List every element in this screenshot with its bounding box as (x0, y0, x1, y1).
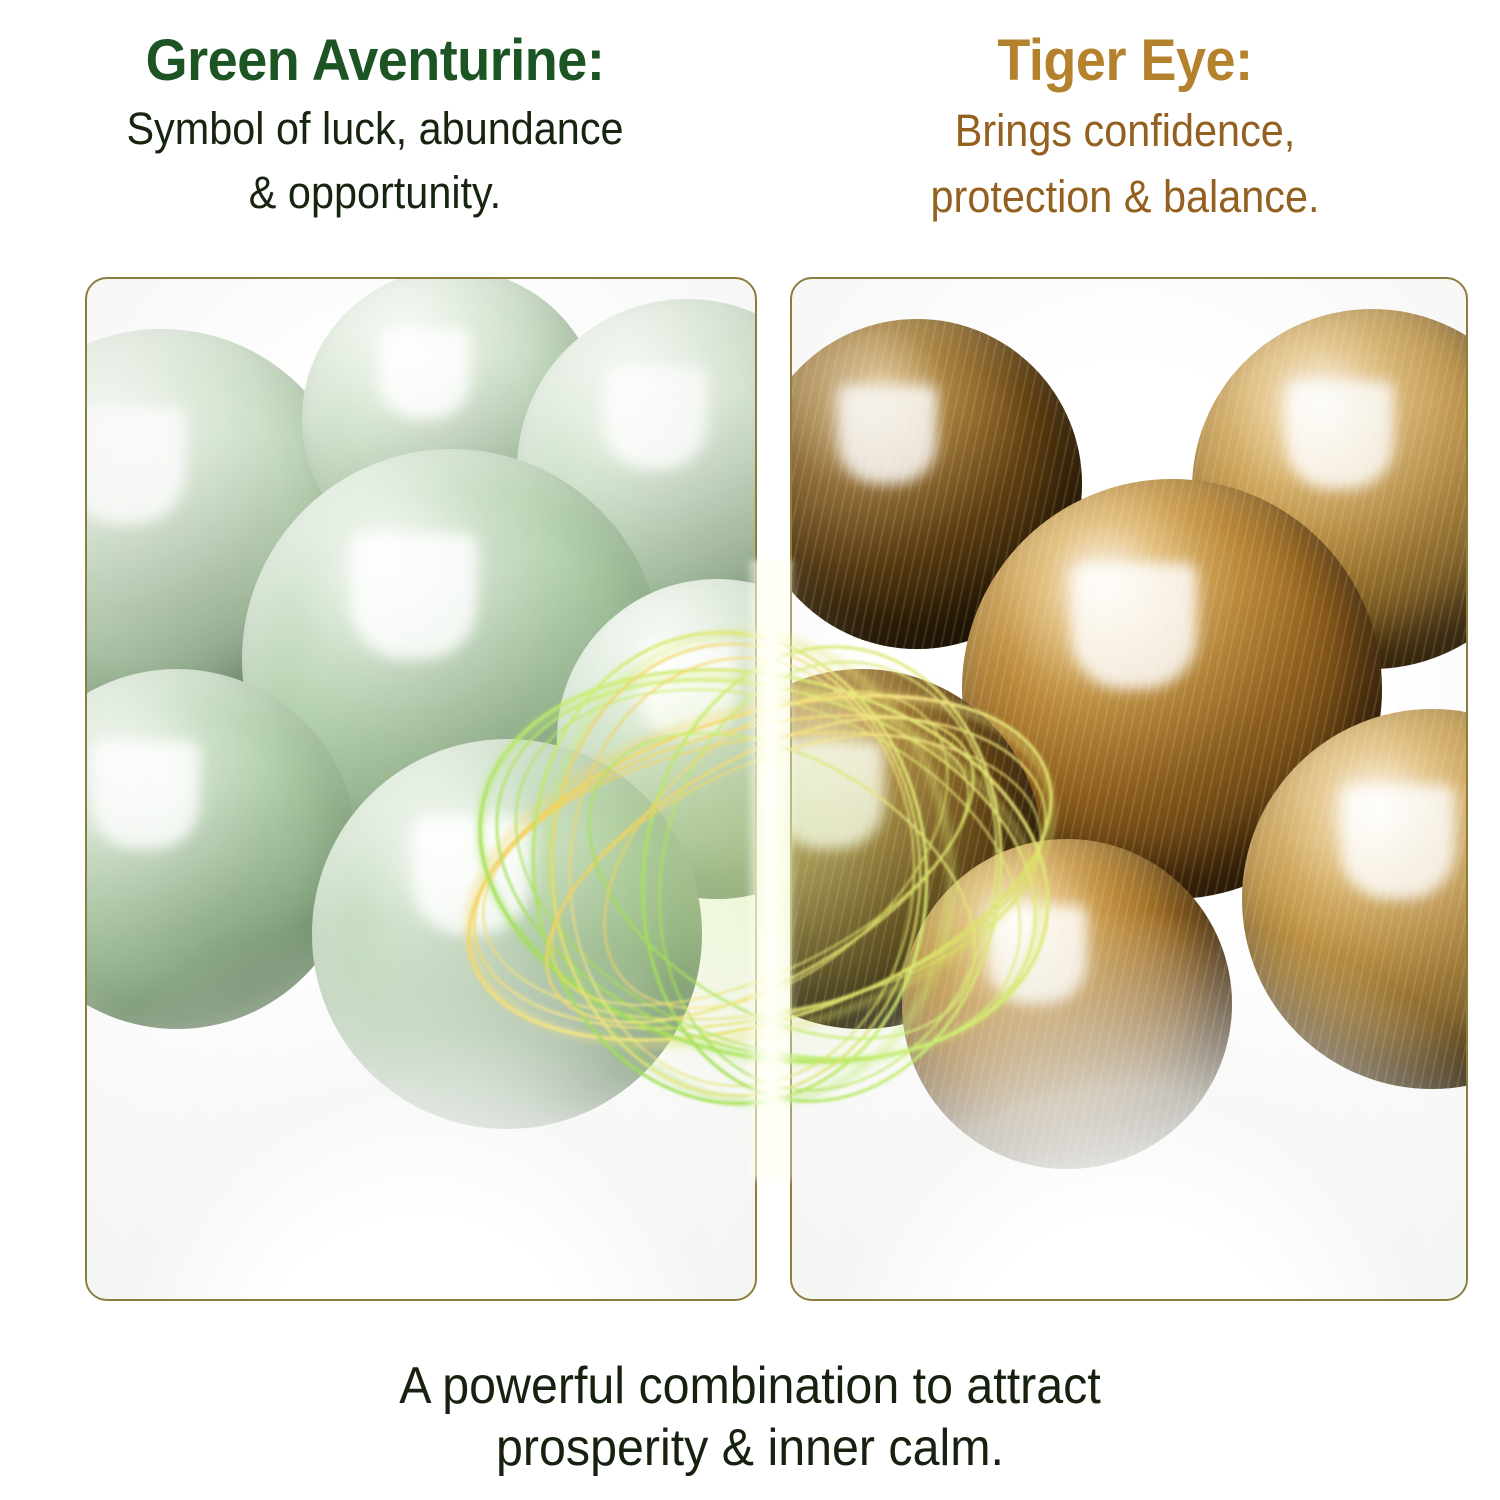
tiger-eye-photo-panel (790, 277, 1468, 1301)
green-aventurine-subtitle-line2: & opportunity. (30, 166, 720, 220)
infographic-canvas: Green Aventurine: Symbol of luck, abunda… (0, 0, 1500, 1500)
green-aventurine-photo-panel (85, 277, 757, 1301)
sphere (902, 839, 1232, 1169)
footer-caption-line2: prosperity & inner calm. (53, 1417, 1448, 1479)
tiger-eye-title: Tiger Eye: (776, 30, 1474, 92)
green-aventurine-title: Green Aventurine: (26, 30, 724, 92)
footer-caption-line1: A powerful combination to attract (53, 1355, 1448, 1417)
left-header-block: Green Aventurine: Symbol of luck, abunda… (0, 0, 750, 220)
tiger-eye-photo (792, 279, 1466, 1299)
tiger-eye-subtitle-line2: protection & balance. (780, 170, 1470, 224)
green-aventurine-subtitle-line1: Symbol of luck, abundance (30, 102, 720, 156)
right-header-block: Tiger Eye: Brings confidence, protection… (750, 0, 1500, 224)
sphere (312, 739, 702, 1129)
footer-caption: A powerful combination to attract prospe… (53, 1355, 1448, 1479)
green-aventurine-photo (87, 279, 755, 1299)
tiger-eye-subtitle-line1: Brings confidence, (780, 104, 1470, 158)
